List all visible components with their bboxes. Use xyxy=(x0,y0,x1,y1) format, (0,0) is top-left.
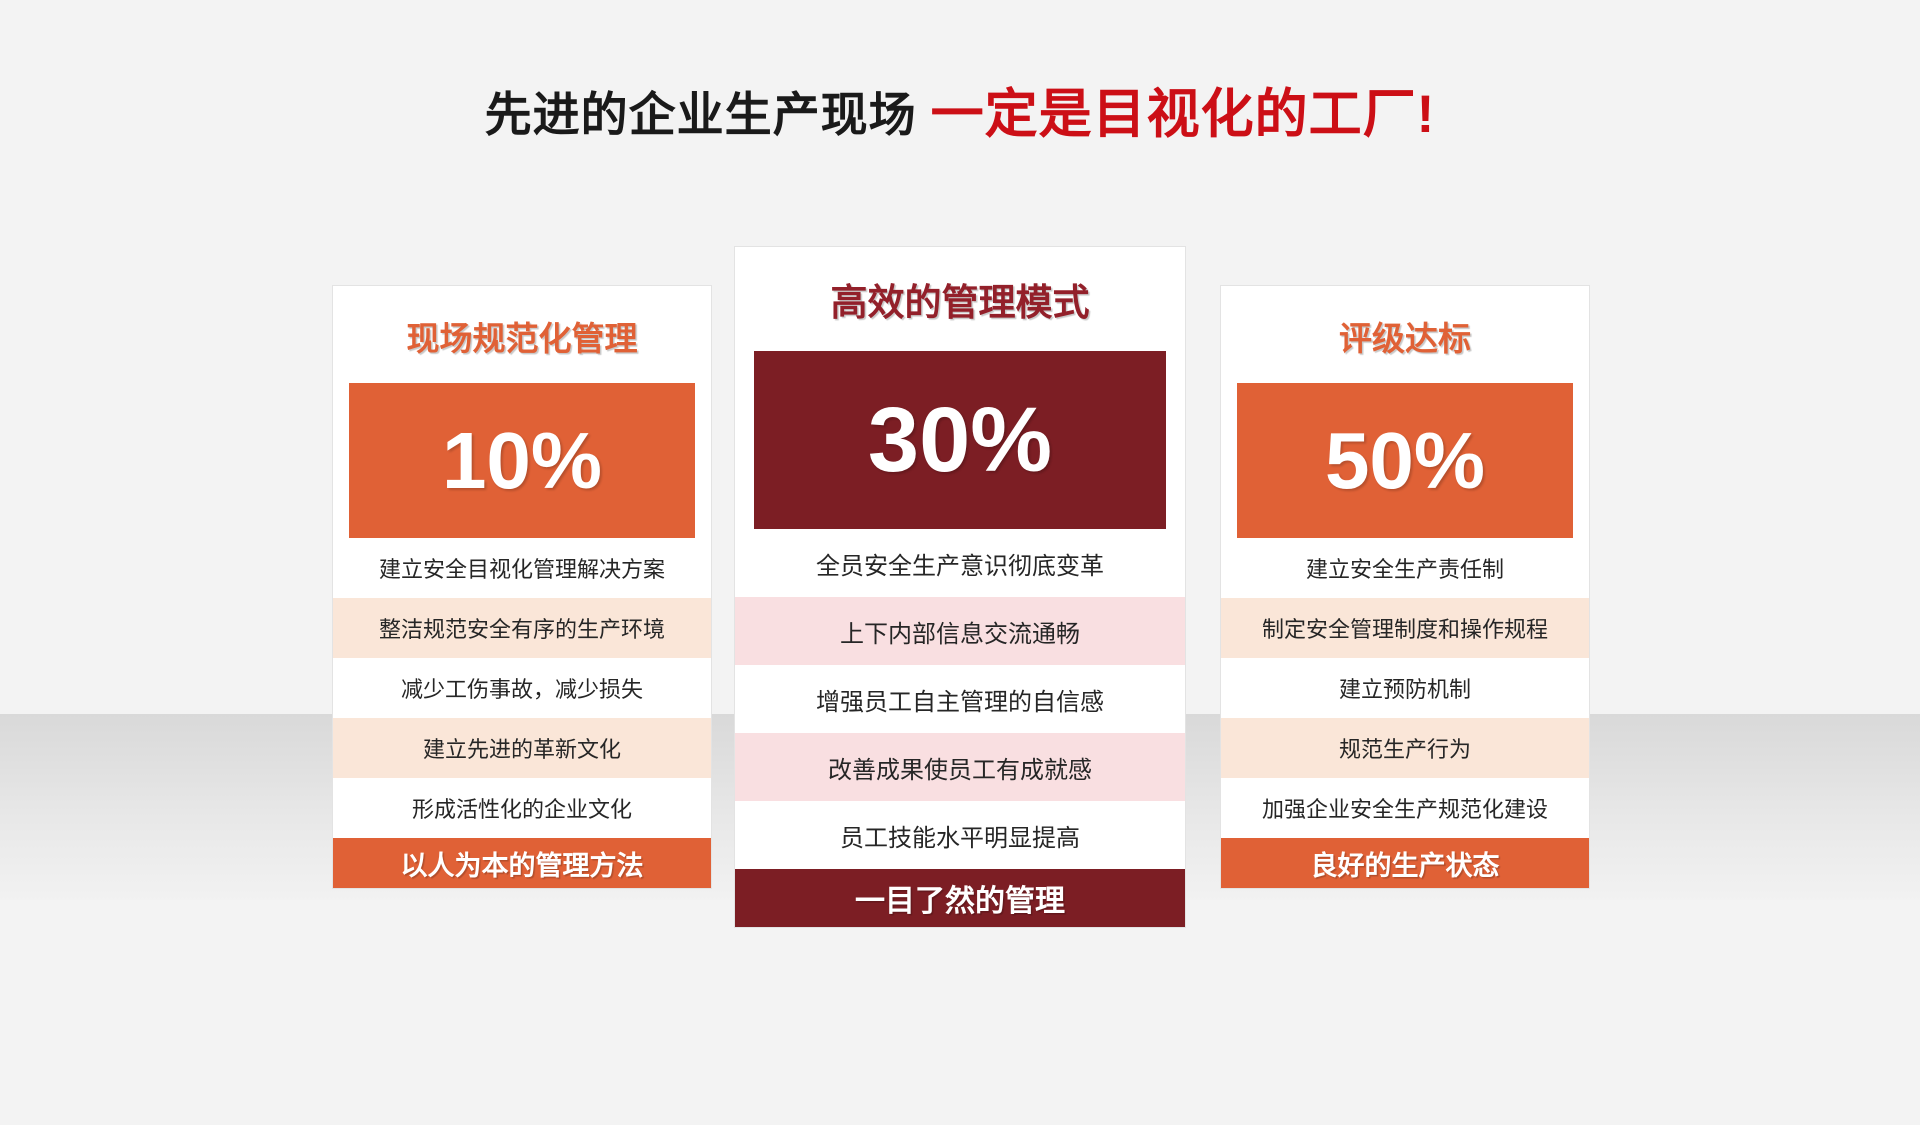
list-item: 整洁规范安全有序的生产环境 xyxy=(333,598,711,658)
card-heading: 高效的管理模式 xyxy=(735,247,1185,351)
list-item: 建立安全生产责任制 xyxy=(1221,538,1589,598)
card-efficient-management: 高效的管理模式 30% 全员安全生产意识彻底变革 上下内部信息交流通畅 增强员工… xyxy=(734,246,1186,928)
slide-title: 先进的企业生产现场一定是目视化的工厂! xyxy=(0,88,1920,141)
list-item: 改善成果使员工有成就感 xyxy=(735,733,1185,801)
card-site-standardization: 现场规范化管理 10% 建立安全目视化管理解决方案 整洁规范安全有序的生产环境 … xyxy=(332,285,712,889)
list-item: 全员安全生产意识彻底变革 xyxy=(735,529,1185,597)
card-rating-compliance: 评级达标 50% 建立安全生产责任制 制定安全管理制度和操作规程 建立预防机制 … xyxy=(1220,285,1590,889)
percent-block: 10% xyxy=(349,383,695,538)
list-item: 上下内部信息交流通畅 xyxy=(735,597,1185,665)
benefit-list: 建立安全目视化管理解决方案 整洁规范安全有序的生产环境 减少工伤事故，减少损失 … xyxy=(333,538,711,838)
percent-value: 50% xyxy=(1325,421,1485,501)
card-footer-banner: 一目了然的管理 xyxy=(735,869,1185,927)
benefit-list: 全员安全生产意识彻底变革 上下内部信息交流通畅 增强员工自主管理的自信感 改善成… xyxy=(735,529,1185,869)
list-item: 增强员工自主管理的自信感 xyxy=(735,665,1185,733)
card-heading: 评级达标 xyxy=(1221,286,1589,383)
title-red-segment: 一定是目视化的工厂! xyxy=(931,85,1436,144)
percent-value: 30% xyxy=(868,394,1052,486)
list-item: 建立先进的革新文化 xyxy=(333,718,711,778)
list-item: 制定安全管理制度和操作规程 xyxy=(1221,598,1589,658)
benefit-list: 建立安全生产责任制 制定安全管理制度和操作规程 建立预防机制 规范生产行为 加强… xyxy=(1221,538,1589,838)
card-footer-banner: 以人为本的管理方法 xyxy=(333,838,711,888)
percent-block: 50% xyxy=(1237,383,1573,538)
slide-canvas: 先进的企业生产现场一定是目视化的工厂! 现场规范化管理 10% 建立安全目视化管… xyxy=(0,0,1920,1125)
list-item: 建立预防机制 xyxy=(1221,658,1589,718)
percent-block: 30% xyxy=(754,351,1166,529)
list-item: 建立安全目视化管理解决方案 xyxy=(333,538,711,598)
list-item: 加强企业安全生产规范化建设 xyxy=(1221,778,1589,838)
list-item: 规范生产行为 xyxy=(1221,718,1589,778)
card-heading: 现场规范化管理 xyxy=(333,286,711,383)
card-footer-banner: 良好的生产状态 xyxy=(1221,838,1589,888)
percent-value: 10% xyxy=(442,421,602,501)
list-item: 形成活性化的企业文化 xyxy=(333,778,711,838)
list-item: 减少工伤事故，减少损失 xyxy=(333,658,711,718)
title-dark-segment: 先进的企业生产现场 xyxy=(485,88,917,141)
background-lower xyxy=(0,900,1920,1125)
list-item: 员工技能水平明显提高 xyxy=(735,801,1185,869)
